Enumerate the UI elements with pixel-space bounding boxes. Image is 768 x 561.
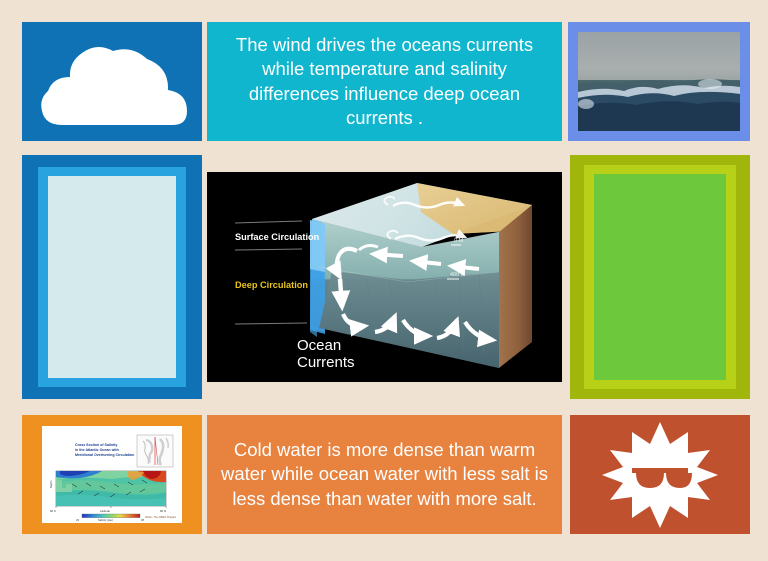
density-statement-text: Cold water is more dense than warm water… (207, 438, 562, 510)
colorbar-label: Salinity (psu) (98, 518, 113, 522)
salinity-cross-section-chart: Cross Section of Salinity in the Atlanti… (42, 426, 182, 523)
diagram-title-line1: Ocean (297, 337, 341, 354)
density-statement-tile: Cold water is more dense than warm water… (207, 415, 562, 534)
blue-frame-inner (48, 176, 176, 378)
salinity-xlabel: Latitude (100, 509, 110, 513)
depth-marker-400m: 400 M (450, 272, 466, 278)
diagram-title-line2: Currents (297, 354, 355, 371)
salinity-xtick-right: 60 N (160, 509, 166, 513)
ocean-waves-photo (578, 32, 740, 131)
green-frame-middle (584, 165, 736, 389)
blue-frame-tile (22, 155, 202, 399)
salinity-ylabel: Depth (49, 480, 53, 488)
salinity-title-line1: Cross Section of Salinity (75, 443, 117, 447)
sun-tile (570, 415, 750, 534)
salinity-chart-tile: Cross Section of Salinity in the Atlanti… (22, 415, 202, 534)
wind-statement-text: The wind drives the oceans currents whil… (207, 33, 562, 129)
label-deep-circulation: Deep Circulation (235, 280, 308, 290)
ocean-currents-diagram: 0 M 400 M Surface Circulation Deep Circu… (207, 172, 562, 382)
cloud-icon (37, 41, 187, 127)
world-map-inset (137, 435, 173, 467)
sun-sunglasses-icon (602, 420, 718, 530)
green-frame-inner (594, 174, 726, 380)
green-frame-tile (570, 155, 750, 399)
salinity-credit: NOAA - The CliMET Program (145, 516, 176, 519)
blue-frame-middle (38, 167, 186, 387)
salinity-title-line2: in the Atlantic Ocean with (75, 448, 119, 452)
label-surface-circulation: Surface Circulation (235, 232, 320, 242)
salinity-xtick-left: 60 S (50, 509, 56, 513)
ocean-currents-diagram-tile: 0 M 400 M Surface Circulation Deep Circu… (207, 172, 562, 382)
wind-statement-tile: The wind drives the oceans currents whil… (207, 22, 562, 141)
cloud-tile (22, 22, 202, 141)
ocean-photo-tile (568, 22, 750, 141)
slide-canvas: The wind drives the oceans currents whil… (0, 0, 768, 561)
salinity-title-line3: Meridional Overturning Circulation (75, 453, 134, 457)
salinity-colorbar (82, 514, 140, 518)
depth-marker-0m: 0 M (454, 238, 464, 244)
